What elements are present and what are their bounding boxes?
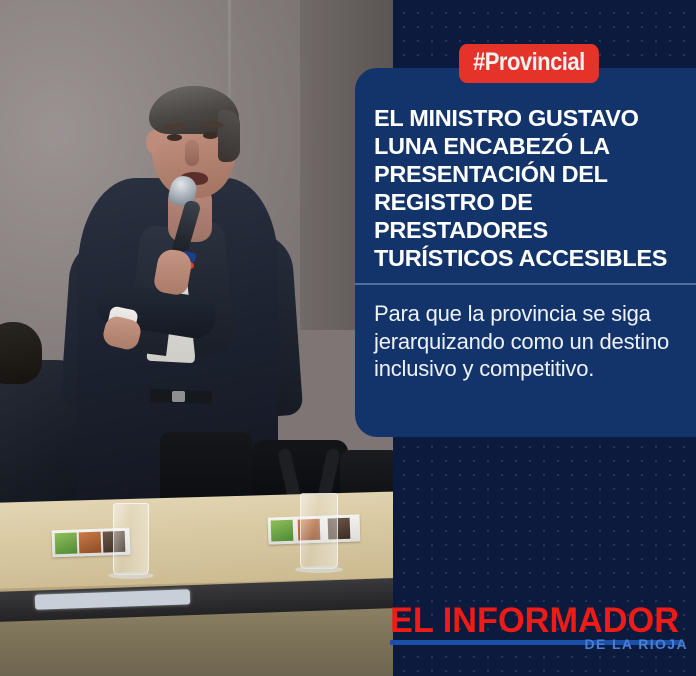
drinking-glass-left [113,503,149,575]
brand-logo[interactable]: EL INFORMADOR DE LA RIOJA [390,603,690,659]
secondary-person-head [0,322,42,384]
card-subtitle: Para que la provincia se siga jerarquiza… [374,300,684,383]
card-divider [355,283,696,285]
press-conference-photo [0,0,393,676]
nose [185,140,199,166]
belt-buckle [172,391,185,402]
brand-logo-tagline: DE LA RIOJA [584,636,688,652]
speaker-hair-side [218,110,240,162]
speaker-ear [146,131,159,153]
eye-right [203,132,218,139]
drinking-glass-right [300,493,338,569]
eye-left [167,134,182,141]
page-title: EL MINISTRO GUSTAVO LUNA ENCABEZÓ LA PRE… [374,104,676,272]
brand-logo-name: EL INFORMADOR [390,603,684,639]
news-graphic-canvas: EL MINISTRO GUSTAVO LUNA ENCABEZÓ LA PRE… [0,0,696,676]
headline-card: EL MINISTRO GUSTAVO LUNA ENCABEZÓ LA PRE… [355,68,696,437]
category-badge-provincial[interactable]: #Provincial [459,44,599,83]
